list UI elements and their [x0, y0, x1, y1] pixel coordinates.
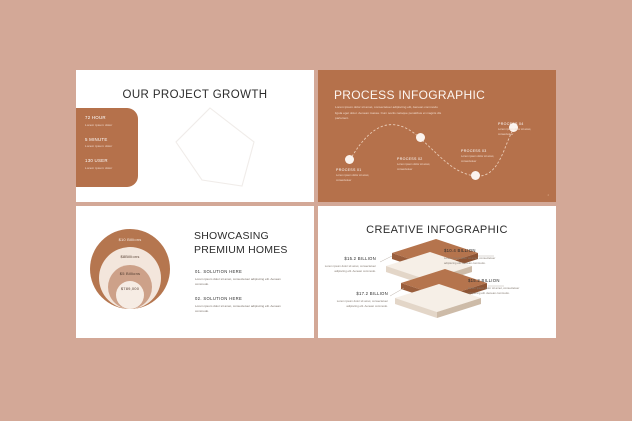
process-title: PROCESS 01	[336, 168, 378, 172]
caption-value: $17.2 BILLION	[336, 291, 388, 296]
solution-body: Lorem ipsum dolor sit amet, consectetuer…	[195, 277, 295, 288]
radar-polygon	[176, 108, 254, 186]
solution-title: 01. SOLUTION HERE	[195, 269, 295, 274]
stat-label: Lorem ipsum dolor	[85, 166, 138, 170]
caption-value: $10.4 BILLION	[444, 248, 496, 253]
process-body: Lorem ipsum dolor sit amet, consectetuer	[498, 128, 540, 137]
solution-body: Lorem ipsum dolor sit amet, consectetuer…	[195, 304, 295, 315]
stat-label: Lorem ipsum dolor	[85, 123, 138, 127]
stat-value: 130 USER	[85, 158, 138, 163]
solution-item-1: 01. SOLUTION HERE Lorem ipsum dolor sit …	[195, 269, 295, 288]
caption-left-bottom: $17.2 BILLION Lorem ipsum dolor sit amet…	[336, 291, 388, 309]
process-body: Lorem ipsum dolor sit amet, consectetuer	[461, 155, 503, 164]
slide-creative-infographic[interactable]: CREATIVE INFOGRAPHIC	[318, 206, 556, 338]
caption-left-top: $15.2 BILLION Lorem ipsum dolor sit amet…	[324, 256, 376, 274]
caption-value: $15.2 BILLION	[468, 278, 520, 283]
process-body: Lorem ipsum dolor sit amet, consectetuer	[397, 163, 439, 172]
process-label-3: PROCESS 03 Lorem ipsum dolor sit amet, c…	[461, 149, 503, 164]
caption-right-bottom: $15.2 BILLION Lorem ipsum dolor sit amet…	[468, 278, 520, 296]
caption-body: Lorem ipsum dolor sit amet, consectetuer…	[336, 299, 388, 309]
process-title: PROCESS 02	[397, 157, 439, 161]
page-number: 4	[547, 193, 549, 197]
stat-item: 5 MINUTE Lorem ipsum dolor	[85, 137, 138, 149]
circle-tier-4: $789,000	[116, 281, 144, 309]
caption-right-top: $10.4 BILLION Lorem ipsum dolor sit amet…	[444, 248, 496, 266]
radar-chart	[168, 100, 278, 195]
process-label-1: PROCESS 01 Lorem ipsum dolor sit amet, c…	[336, 168, 378, 183]
stat-value: 72 HOUR	[85, 115, 138, 120]
process-node-1[interactable]	[345, 155, 354, 164]
slide-showcasing-premium-homes[interactable]: $10 Billions $8Billions $5 Billions $789…	[76, 206, 314, 338]
solution-title: 02. SOLUTION HERE	[195, 296, 295, 301]
stat-item: 72 HOUR Lorem ipsum dolor	[85, 115, 138, 127]
process-label-2: PROCESS 02 Lorem ipsum dolor sit amet, c…	[397, 157, 439, 172]
stat-value: 5 MINUTE	[85, 137, 138, 142]
stat-label: Lorem ipsum dolor	[85, 144, 138, 148]
process-title: PROCESS 03	[461, 149, 503, 153]
process-node-2[interactable]	[416, 133, 425, 142]
process-label-4: PROCESS 04 Lorem ipsum dolor sit amet, c…	[498, 122, 540, 137]
process-node-3[interactable]	[471, 171, 480, 180]
slide-process-infographic[interactable]: PROCESS INFOGRAPHIC Lorem ipsum dolor si…	[318, 70, 556, 202]
caption-body: Lorem ipsum dolor sit amet, consectetuer…	[444, 256, 496, 266]
circle-label: $789,000	[121, 286, 139, 309]
caption-body: Lorem ipsum dolor sit amet, consectetuer…	[324, 264, 376, 274]
process-body: Lorem ipsum dolor sit amet, consectetuer	[336, 174, 378, 183]
stat-item: 130 USER Lorem ipsum dolor	[85, 158, 138, 170]
process-title: PROCESS 04	[498, 122, 540, 126]
stats-panel: 72 HOUR Lorem ipsum dolor 5 MINUTE Lorem…	[76, 108, 138, 187]
caption-body: Lorem ipsum dolor sit amet, consectetuer…	[468, 286, 520, 296]
slide-deck: OUR PROJECT GROWTH 72 HOUR Lorem ipsum d…	[76, 70, 556, 344]
slide-project-growth[interactable]: OUR PROJECT GROWTH 72 HOUR Lorem ipsum d…	[76, 70, 314, 202]
page-title: SHOWCASING PREMIUM HOMES	[194, 229, 314, 257]
caption-value: $15.2 BILLION	[324, 256, 376, 261]
solution-item-2: 02. SOLUTION HERE Lorem ipsum dolor sit …	[195, 296, 295, 315]
